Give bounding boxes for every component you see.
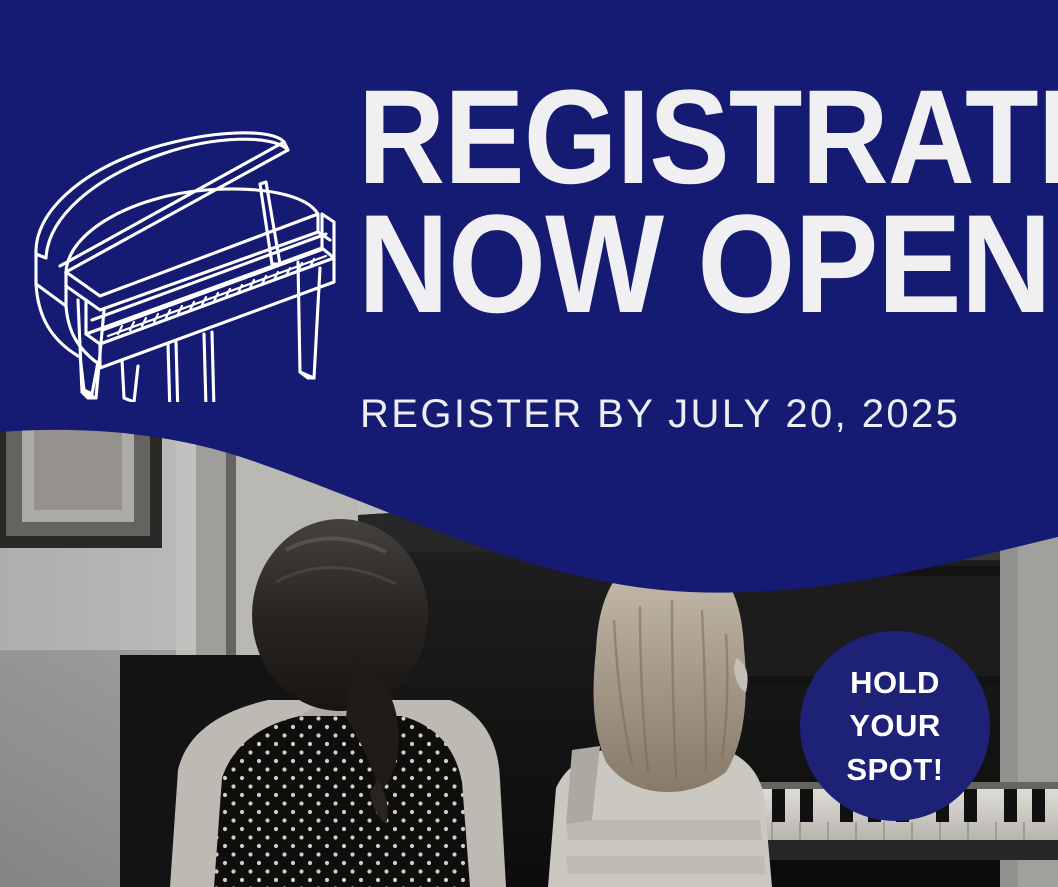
headline-block: REGISTRATION NOW OPEN <box>358 74 1008 331</box>
badge-line-1: HOLD <box>850 662 940 704</box>
hold-your-spot-badge[interactable]: HOLD YOUR SPOT! <box>800 631 990 821</box>
headline-line-1: REGISTRATION <box>358 74 943 203</box>
badge-line-3: SPOT! <box>846 749 943 791</box>
grand-piano-illustration <box>22 72 352 402</box>
headline-line-2: NOW OPEN <box>358 197 943 331</box>
registration-deadline-text: REGISTER BY JULY 20, 2025 <box>360 392 960 437</box>
badge-line-2: YOUR <box>849 705 941 747</box>
grand-piano-icon <box>22 72 352 402</box>
poster-canvas: REGISTRATION NOW OPEN REGISTER BY JULY 2… <box>0 0 1058 887</box>
